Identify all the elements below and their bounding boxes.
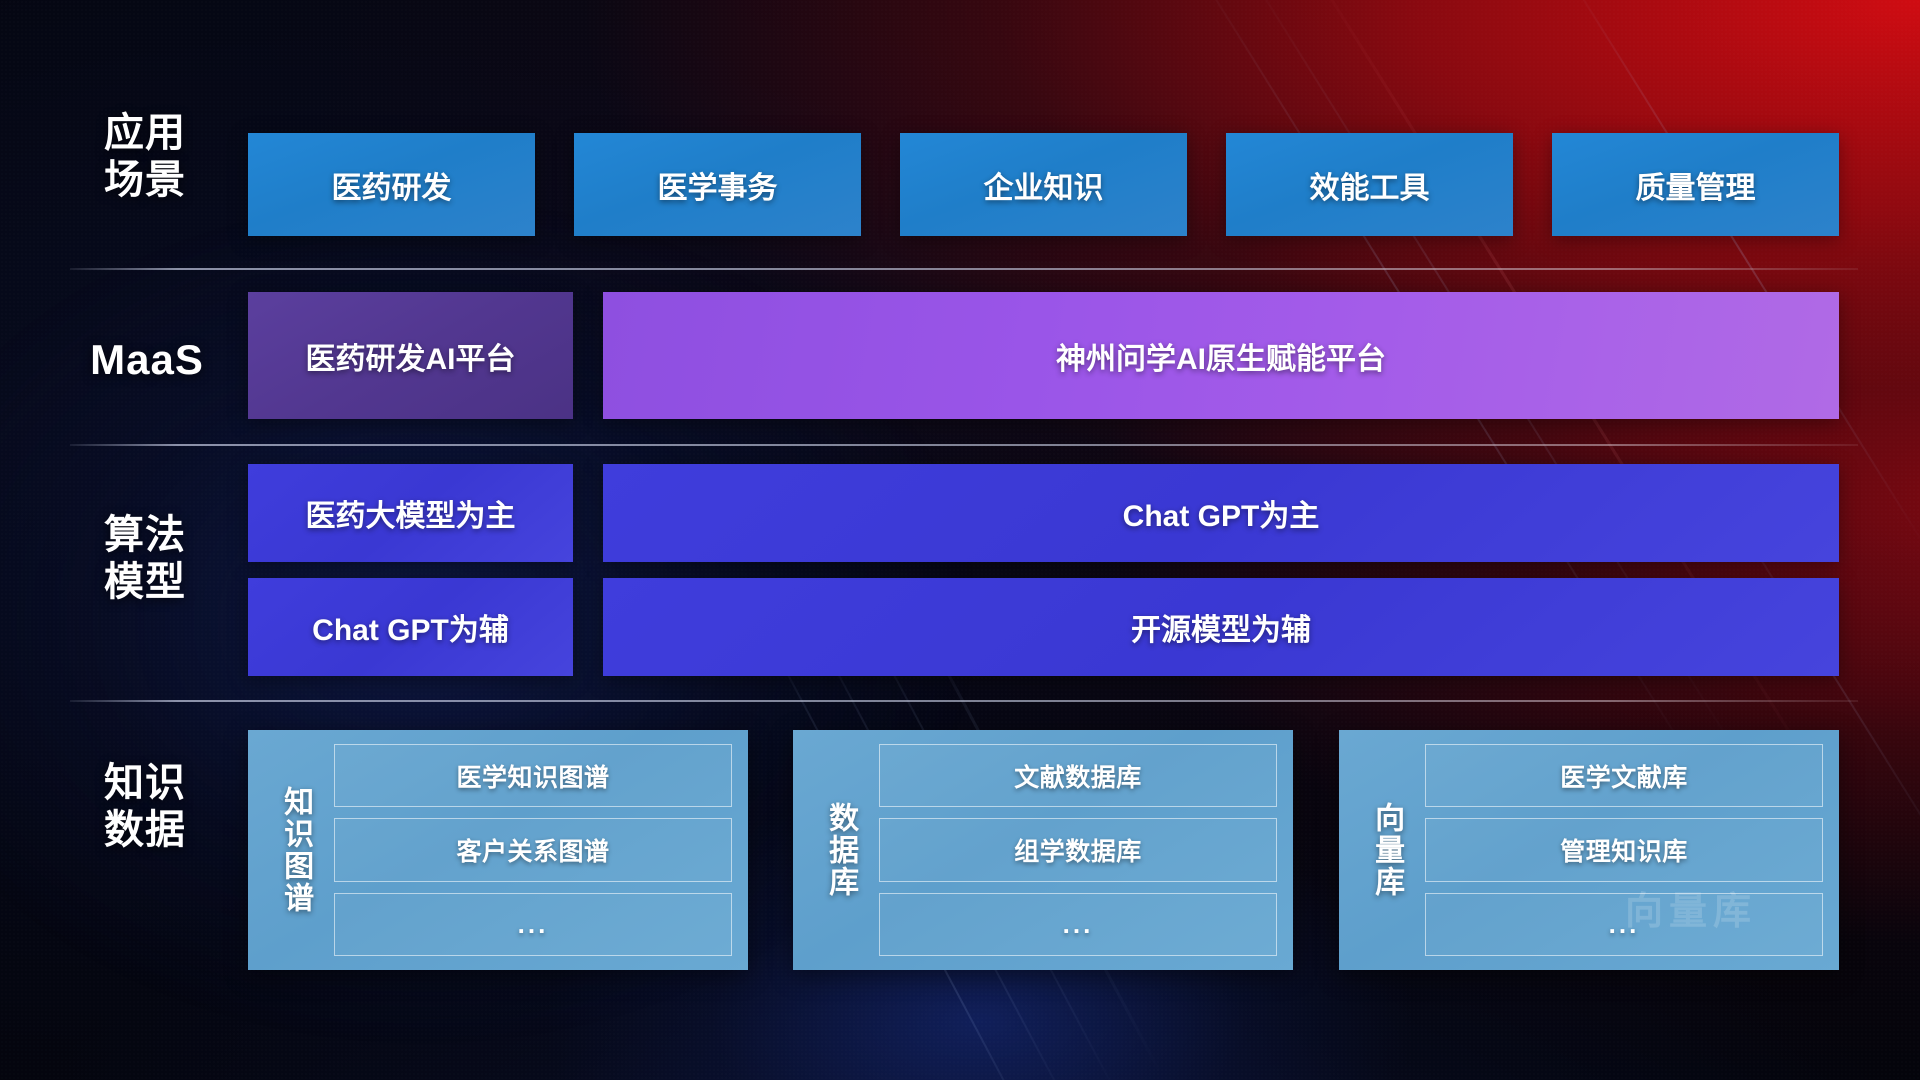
- app-box-label: 企业知识: [984, 163, 1104, 207]
- algo-box-chatgpt-primary[interactable]: Chat GPT为主: [603, 464, 1839, 562]
- knowledge-group-items: 医学知识图谱 客户关系图谱 ...: [326, 744, 732, 956]
- algo-box-label: 开源模型为辅: [1131, 605, 1311, 649]
- knowledge-item-more[interactable]: ...: [334, 893, 732, 956]
- knowledge-group-title: 数据库: [809, 744, 871, 956]
- knowledge-item[interactable]: 文献数据库: [879, 744, 1277, 807]
- algo-box-label: Chat GPT为主: [1123, 491, 1320, 535]
- app-box-quality-management[interactable]: 质量管理: [1552, 133, 1839, 236]
- algo-box-label: Chat GPT为辅: [312, 605, 509, 649]
- knowledge-group-title: 向量库: [1355, 744, 1417, 956]
- algo-box-chatgpt-auxiliary[interactable]: Chat GPT为辅: [248, 578, 573, 676]
- row-label-application-scenario: 应用 场景: [80, 110, 210, 204]
- knowledge-group-vector-store[interactable]: 向量库 医学文献库 管理知识库 ...: [1339, 730, 1839, 970]
- algo-box-opensource-auxiliary[interactable]: 开源模型为辅: [603, 578, 1839, 676]
- diagram-canvas: 应用 场景 医药研发 医学事务 企业知识 效能工具 质量管理 MaaS 医药研发…: [0, 0, 1920, 1080]
- app-box-efficiency-tools[interactable]: 效能工具: [1226, 133, 1513, 236]
- row-label-line-1: 应用: [80, 110, 210, 157]
- row-label-line-2: 数据: [80, 807, 210, 854]
- algo-box-medical-llm-primary[interactable]: 医药大模型为主: [248, 464, 573, 562]
- knowledge-group-database[interactable]: 数据库 文献数据库 组学数据库 ...: [793, 730, 1293, 970]
- maas-box-label: 神州问学AI原生赋能平台: [1056, 334, 1386, 378]
- row-separator-3: [70, 700, 1858, 702]
- row-separator-1: [70, 268, 1858, 270]
- row-label-knowledge-data: 知识 数据: [80, 760, 210, 854]
- app-box-medical-rd[interactable]: 医药研发: [248, 133, 535, 236]
- knowledge-group-items: 医学文献库 管理知识库 ...: [1417, 744, 1823, 956]
- knowledge-item[interactable]: 医学文献库: [1425, 744, 1823, 807]
- app-box-medical-affairs[interactable]: 医学事务: [574, 133, 861, 236]
- knowledge-item-more[interactable]: ...: [879, 893, 1277, 956]
- knowledge-group-knowledge-graph[interactable]: 知识图谱 医学知识图谱 客户关系图谱 ...: [248, 730, 748, 970]
- app-box-label: 医药研发: [332, 163, 452, 207]
- maas-box-shenzhou-wenxue-platform[interactable]: 神州问学AI原生赋能平台: [603, 292, 1839, 419]
- knowledge-item[interactable]: 组学数据库: [879, 818, 1277, 881]
- knowledge-item[interactable]: 管理知识库: [1425, 818, 1823, 881]
- row-label-line-2: 模型: [80, 559, 210, 606]
- row-label-line-1: 算法: [80, 512, 210, 559]
- knowledge-group-items: 文献数据库 组学数据库 ...: [871, 744, 1277, 956]
- row-label-line-2: 场景: [80, 157, 210, 204]
- row-separator-2: [70, 444, 1858, 446]
- app-box-label: 质量管理: [1636, 163, 1756, 207]
- app-box-label: 效能工具: [1310, 163, 1430, 207]
- app-box-enterprise-knowledge[interactable]: 企业知识: [900, 133, 1187, 236]
- knowledge-item[interactable]: 医学知识图谱: [334, 744, 732, 807]
- knowledge-group-title: 知识图谱: [264, 744, 326, 956]
- row-label-maas: MaaS: [72, 335, 222, 385]
- knowledge-item-more[interactable]: ...: [1425, 893, 1823, 956]
- row-label-line-1: MaaS: [72, 335, 222, 385]
- knowledge-item[interactable]: 客户关系图谱: [334, 818, 732, 881]
- row-label-algorithm-model: 算法 模型: [80, 512, 210, 606]
- algo-box-label: 医药大模型为主: [306, 491, 516, 535]
- row-label-line-1: 知识: [80, 760, 210, 807]
- app-box-label: 医学事务: [658, 163, 778, 207]
- maas-box-medical-rd-ai-platform[interactable]: 医药研发AI平台: [248, 292, 573, 419]
- maas-box-label: 医药研发AI平台: [306, 334, 516, 378]
